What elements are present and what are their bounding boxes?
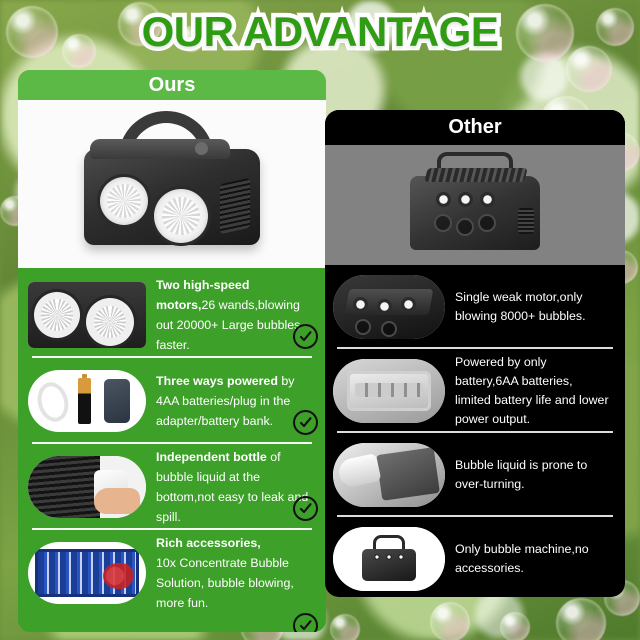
ours-hero-image [18,100,326,268]
ours-feature-bold: Rich accessories, [156,536,261,550]
other-feature-row: Only bubble machine,no accessories. [325,517,625,597]
machine-vent [220,178,250,234]
other-feature-row: Bubble liquid is prone to over-turning. [325,433,625,517]
ours-feature-row: Three ways powered by 4AA batteries/plug… [18,358,326,444]
other-feature-row: Powered by only battery,6AA batteries, l… [325,349,625,433]
decorative-bubble [556,598,606,640]
bare-machine-thumbnail [333,527,445,591]
other-feature-text: Powered by only battery,6AA batteries, l… [445,353,617,430]
ours-feature-text: Independent bottle of bubble liquid at t… [146,447,318,527]
machine-fan-left [100,177,148,225]
check-circle-icon [293,613,318,632]
ours-machine-illustration [57,109,287,259]
other-feature-list: Single weak motor,only blowing 8000+ bub… [325,265,625,597]
ours-feature-text: Rich accessories,10x Concentrate Bubble … [146,533,318,613]
infographic-canvas: OUR ADVANTAGE Ours [0,0,640,640]
machine-body [410,176,540,250]
ours-feature-bold: Independent bottle [156,450,267,464]
check-circle-icon [293,324,318,349]
ours-feature-text: Two high-speed motors,26 wands,blowing o… [146,275,318,355]
other-machine-illustration [385,150,565,260]
ours-feature-row: Independent bottle of bubble liquid at t… [18,444,326,530]
other-panel: Other [325,110,625,597]
ours-feature-row: Rich accessories,10x Concentrate Bubble … [18,530,326,616]
concentrate-solution-pack-thumbnail [28,542,146,604]
other-header: Other [325,110,625,145]
machine-body [84,149,260,245]
machine-knob [195,142,208,155]
machine-top-grill [424,168,527,182]
ours-feature-list: Two high-speed motors,26 wands,blowing o… [18,268,326,616]
machine-port [436,192,451,207]
other-feature-row: Single weak motor,only blowing 8000+ bub… [325,265,625,349]
check-circle-icon [293,410,318,435]
ours-feature-rest: 10x Concentrate Bubble Solution, bubble … [156,556,294,610]
decorative-bubble [330,614,360,640]
machine-port [458,192,473,207]
other-feature-text: Single weak motor,only blowing 8000+ bub… [445,288,617,326]
machine-vent [518,208,534,234]
ours-feature-bold: Three ways powered [156,374,278,388]
machine-top-panel [90,139,230,159]
independent-bottle-thumbnail [28,456,146,518]
machine-fan-right [154,189,208,243]
decorative-bubble [430,602,470,640]
ours-header: Ours [18,70,326,100]
other-feature-text: Only bubble machine,no accessories. [445,540,617,578]
cable-battery-powerbank-thumbnail [28,370,146,432]
check-circle-icon [293,496,318,521]
machine-port [480,192,495,207]
tipped-bottle-thumbnail [333,443,445,507]
other-hero-image [325,145,625,265]
two-fans-closeup-thumbnail [28,282,146,348]
ours-feature-row: Two high-speed motors,26 wands,blowing o… [18,272,326,358]
ours-panel: Ours Two high-speed [18,70,326,632]
other-feature-text: Bubble liquid is prone to over-turning. [445,456,617,494]
single-motor-three-port-thumbnail [333,275,445,339]
page-title: OUR ADVANTAGE [0,8,640,56]
battery-tray-thumbnail [333,359,445,423]
decorative-bubble [500,612,530,640]
